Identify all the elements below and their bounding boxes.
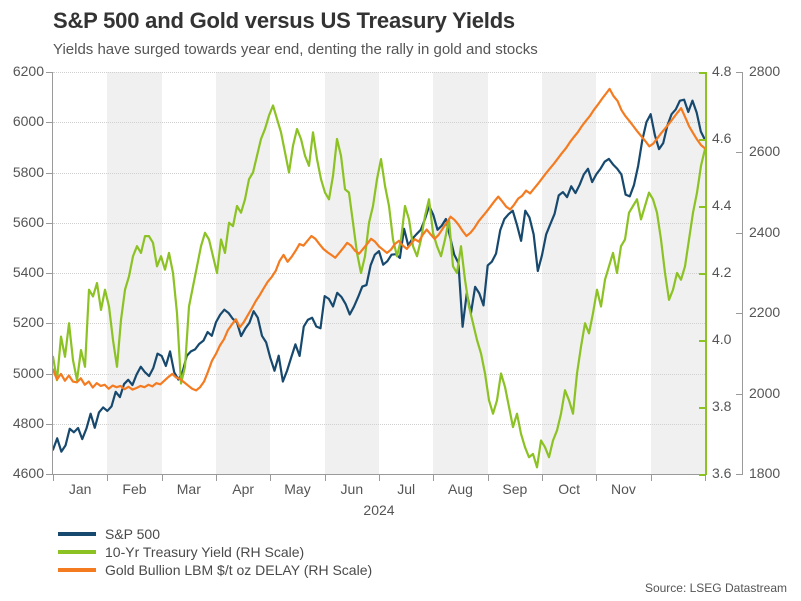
gold-axis-line [742,72,743,475]
gold-tick-label: 2400 [749,224,780,240]
left-tick-label: 4800 [0,415,44,431]
legend-label: S&P 500 [105,526,160,542]
yield-tick-label: 4.0 [712,331,731,347]
left-tick-label: 6200 [0,63,44,79]
left-tick-mark [46,474,53,475]
x-tick-mark [596,474,597,481]
gold-tick-label: 2000 [749,385,780,401]
x-tick-mark [53,474,54,481]
x-tick-mark [325,474,326,481]
x-tick-label: Sep [488,481,542,497]
gold-tick-label: 2200 [749,304,780,320]
yield-tick-label: 4.4 [712,197,731,213]
left-tick-label: 5600 [0,214,44,230]
x-tick-label: Jan [53,481,107,497]
gold-tick-mark [736,233,743,234]
left-tick-mark [46,122,53,123]
x-tick-mark [162,474,163,481]
left-tick-mark [46,72,53,73]
x-tick-label: Jul [379,481,433,497]
x-tick-label: May [270,481,324,497]
legend-label: 10-Yr Treasury Yield (RH Scale) [105,544,304,560]
x-tick-mark [542,474,543,481]
left-tick-mark [46,173,53,174]
x-tick-label: Mar [162,481,216,497]
series-lines [53,72,705,474]
x-tick-label: Jun [325,481,379,497]
legend-item[interactable]: Gold Bullion LBM $/t oz DELAY (RH Scale) [58,561,372,579]
left-tick-mark [46,223,53,224]
gold-tick-mark [736,152,743,153]
x-tick-mark [216,474,217,481]
legend-item[interactable]: 10-Yr Treasury Yield (RH Scale) [58,543,372,561]
yield-tick-mark [699,72,706,74]
yield-tick-mark [699,407,706,409]
left-tick-label: 4600 [0,465,44,481]
x-tick-mark [705,474,706,481]
x-tick-mark [379,474,380,481]
x-tick-mark [433,474,434,481]
left-tick-label: 6000 [0,113,44,129]
yield-tick-label: 3.8 [712,398,731,414]
yield-tick-label: 4.8 [712,63,731,79]
left-tick-mark [46,374,53,375]
left-tick-label: 5400 [0,264,44,280]
gold-tick-mark [736,474,743,475]
x-tick-mark [488,474,489,481]
x-tick-mark [651,474,652,481]
x-tick-label: Feb [107,481,161,497]
x-tick-label: Aug [433,481,487,497]
yield-tick-label: 3.6 [712,465,731,481]
x-tick-label: Oct [542,481,596,497]
gold-tick-mark [736,394,743,395]
gold-tick-mark [736,313,743,314]
gold-tick-label: 2600 [749,143,780,159]
plot-area [53,72,705,474]
chart-root: S&P 500 and Gold versus US Treasury Yiel… [0,0,801,601]
legend-swatch [58,568,96,572]
legend-swatch [58,550,96,554]
legend-label: Gold Bullion LBM $/t oz DELAY (RH Scale) [105,562,372,578]
yield-tick-mark [699,273,706,275]
left-tick-mark [46,273,53,274]
left-tick-mark [46,323,53,324]
source-attribution: Source: LSEG Datastream [645,581,787,595]
x-tick-label: Apr [216,481,270,497]
chart-subtitle: Yields have surged towards year end, den… [53,41,538,58]
yield-tick-label: 4.2 [712,264,731,280]
gold-tick-label: 2800 [749,63,780,79]
gold-tick-label: 1800 [749,465,780,481]
x-tick-mark [270,474,271,481]
page-title: S&P 500 and Gold versus US Treasury Yiel… [53,8,515,34]
x-tick-mark [107,474,108,481]
x-tick-label: Nov [596,481,650,497]
left-tick-label: 5200 [0,314,44,330]
left-tick-mark [46,424,53,425]
legend-item[interactable]: S&P 500 [58,525,372,543]
yield-tick-mark [699,340,706,342]
yield-tick-mark [699,206,706,208]
chart-legend: S&P 50010-Yr Treasury Yield (RH Scale)Go… [58,525,372,579]
left-tick-label: 5000 [0,365,44,381]
yield-tick-label: 4.6 [712,130,731,146]
left-tick-label: 5800 [0,164,44,180]
legend-swatch [58,532,96,536]
yield-tick-mark [699,139,706,141]
x-axis-year-label: 2024 [53,502,705,518]
gold-tick-mark [736,72,743,73]
